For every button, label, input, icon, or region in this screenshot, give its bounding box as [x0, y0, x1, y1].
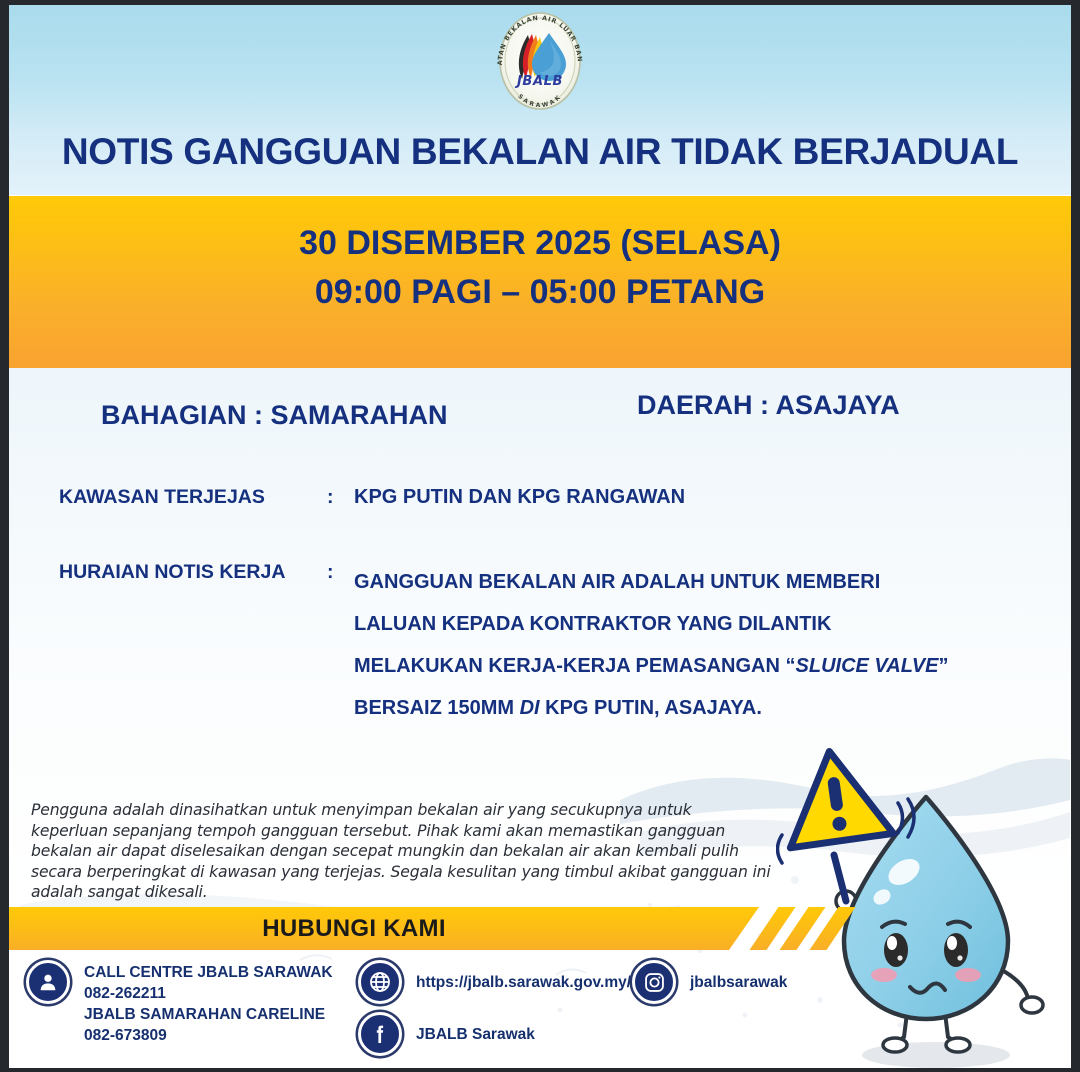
- jbalb-seal-logo: JABATAN BEKALAN AIR LUAR BANDAR SARAWAK …: [486, 9, 594, 113]
- affected-area-value: KPG PUTIN DAN KPG RANGAWAN: [354, 486, 685, 509]
- division-label: BAHAGIAN : SAMARAHAN: [101, 400, 447, 431]
- poster-header: JABATAN BEKALAN AIR LUAR BANDAR SARAWAK …: [9, 5, 1071, 195]
- call-centre-text: CALL CENTRE JBALB SARAWAK 082-262211 JBA…: [84, 960, 333, 1046]
- page-title: NOTIS GANGGUAN BEKALAN AIR TIDAK BERJADU…: [9, 131, 1071, 173]
- affected-area-colon: :: [327, 486, 334, 509]
- careline-phone: 082-673809: [84, 1025, 333, 1046]
- date-time-band: 30 DISEMBER 2025 (SELASA) 09:00 PAGI – 0…: [9, 196, 1071, 368]
- works-description-label: HURAIAN NOTIS KERJA: [59, 561, 285, 584]
- works-line-2: LALUAN KEPADA KONTRAKTOR YANG DILANTIK: [354, 603, 949, 645]
- works-description-colon: :: [327, 561, 334, 584]
- works-line-3: MELAKUKAN KERJA-KERJA PEMASANGAN “SLUICE…: [354, 645, 949, 687]
- call-centre-name: CALL CENTRE JBALB SARAWAK: [84, 962, 333, 983]
- frame-top: [0, 0, 1080, 5]
- works-line-4: BERSAIZ 150MM DI KPG PUTIN, ASAJAYA.: [354, 687, 949, 729]
- contact-website[interactable]: https://jbalb.sarawak.gov.my/: [358, 960, 631, 1004]
- frame-left: [0, 0, 9, 1072]
- contact-section: CALL CENTRE JBALB SARAWAK 082-262211 JBA…: [0, 950, 1080, 1072]
- works-description-value: GANGGUAN BEKALAN AIR ADALAH UNTUK MEMBER…: [354, 561, 949, 729]
- person-icon: [26, 960, 70, 1004]
- facebook-handle: JBALB Sarawak: [416, 1012, 535, 1045]
- contact-bar-label: HUBUNGI KAMI: [9, 907, 699, 950]
- advisory-paragraph: Pengguna adalah dinasihatkan untuk menyi…: [31, 800, 771, 903]
- instagram-icon: [632, 960, 676, 1004]
- call-centre-phone: 082-262211: [84, 983, 333, 1004]
- instagram-handle: jbalbsarawak: [690, 960, 787, 993]
- careline-name: JBALB SAMARAHAN CARELINE: [84, 1004, 333, 1025]
- frame-bottom: [0, 1068, 1080, 1072]
- contact-instagram[interactable]: jbalbsarawak: [632, 960, 787, 1004]
- contact-bar: HUBUNGI KAMI: [9, 907, 759, 950]
- facebook-icon: [358, 1012, 402, 1056]
- frame-right: [1071, 0, 1080, 1072]
- contact-facebook[interactable]: JBALB Sarawak: [358, 1012, 535, 1056]
- contact-call-centre[interactable]: CALL CENTRE JBALB SARAWAK 082-262211 JBA…: [26, 960, 333, 1046]
- svg-text:JBALB: JBALB: [514, 74, 563, 89]
- globe-icon: [358, 960, 402, 1004]
- district-label: DAERAH : ASAJAYA: [637, 390, 900, 421]
- notice-poster: JABATAN BEKALAN AIR LUAR BANDAR SARAWAK …: [0, 0, 1080, 1072]
- affected-area-label: KAWASAN TERJEJAS: [59, 486, 265, 509]
- website-url: https://jbalb.sarawak.gov.my/: [416, 960, 631, 993]
- notice-time: 09:00 PAGI – 05:00 PETANG: [315, 271, 765, 314]
- notice-date: 30 DISEMBER 2025 (SELASA): [299, 222, 781, 265]
- works-line-1: GANGGUAN BEKALAN AIR ADALAH UNTUK MEMBER…: [354, 561, 949, 603]
